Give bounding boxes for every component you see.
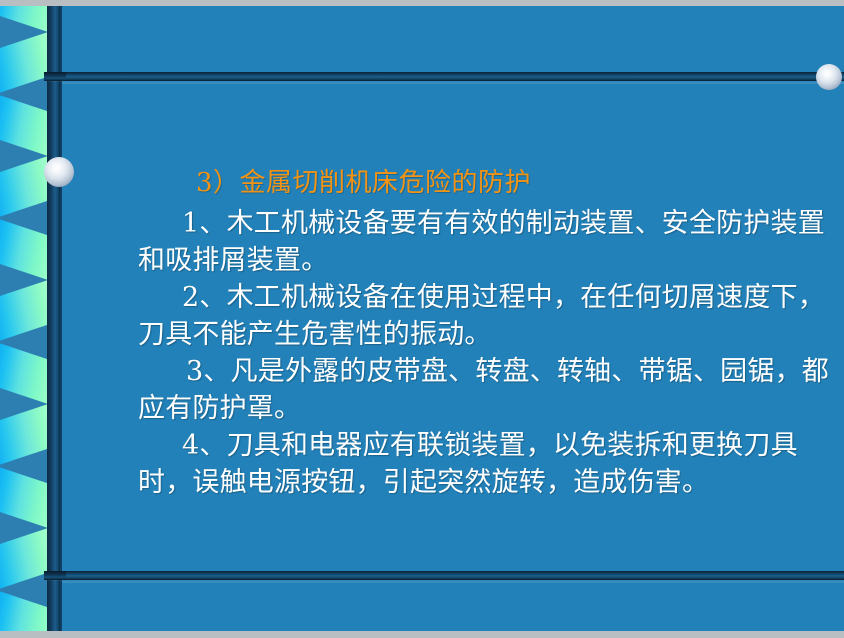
body-paragraph-1: 1、木工机械设备要有有效的制动装置、安全防护装置和吸排屑装置。	[138, 205, 838, 279]
divider-rail-stub-top	[44, 72, 66, 81]
slide-heading: 3）金属切削机床危险的防护	[196, 168, 531, 199]
slide-content-area: 3）金属切削机床危险的防护 1、木工机械设备要有有效的制动装置、安全防护装置和吸…	[62, 81, 844, 571]
panel-seam-top	[62, 82, 844, 84]
slide-header-panel	[62, 6, 844, 72]
panel-seam-bottom	[62, 581, 844, 583]
body-paragraph-3: 3、凡是外露的皮带盘、转盘、转轴、带锯、园锯，都应有防护罩。	[138, 353, 838, 427]
slide-bottom-edge-strip	[0, 631, 844, 638]
twisted-ribbon-ornament	[0, 0, 62, 638]
body-paragraph-2: 2、木工机械设备在使用过程中，在任何切屑速度下，刀具不能产生危害性的振动。	[138, 279, 838, 353]
divider-rail-top	[48, 72, 844, 81]
divider-rail-stub-bottom	[44, 571, 66, 580]
body-paragraph-4: 4、刀具和电器应有联锁装置，以免装拆和更换刀具时，误触电源按钮，引起突然旋转，造…	[138, 427, 838, 501]
presentation-slide: 3）金属切削机床危险的防护 1、木工机械设备要有有效的制动装置、安全防护装置和吸…	[0, 0, 844, 638]
slide-footer-panel	[62, 580, 844, 631]
glow-sphere-left	[44, 157, 74, 187]
glow-sphere-right	[816, 64, 842, 90]
divider-rail-bottom	[48, 571, 844, 580]
slide-top-edge-strip	[0, 0, 844, 6]
ribbon-twist-shadow	[47, 0, 60, 638]
slide-body-text: 1、木工机械设备要有有效的制动装置、安全防护装置和吸排屑装置。 2、木工机械设备…	[138, 205, 838, 501]
